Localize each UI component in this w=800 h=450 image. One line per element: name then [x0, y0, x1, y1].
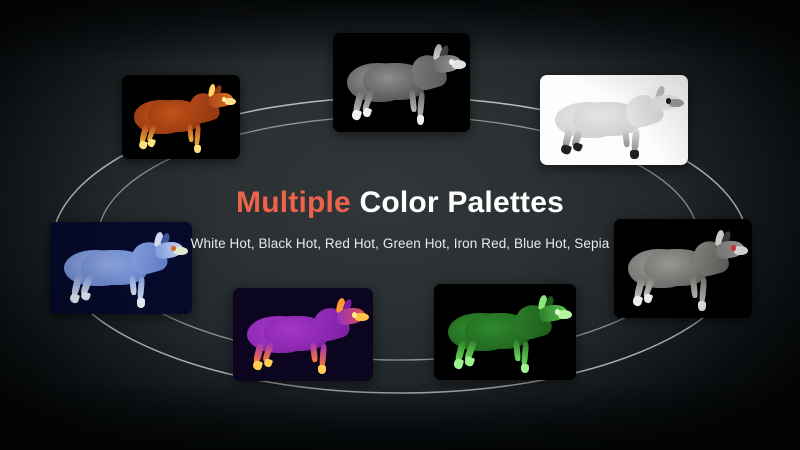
palette-card-black-hot[interactable]	[540, 75, 688, 165]
palette-card-iron-red[interactable]	[122, 75, 240, 159]
deer-subject	[233, 288, 373, 381]
deer-subject	[434, 284, 576, 380]
title-accent-word: Multiple	[236, 186, 351, 219]
bottom-fade-overlay	[0, 380, 800, 450]
page-title: Multiple Color Palettes	[0, 186, 800, 221]
title-rest: Color Palettes	[351, 186, 564, 219]
thermal-scene-green-hot	[434, 284, 576, 380]
deer-subject	[540, 75, 688, 165]
thermal-scene-black-hot	[540, 75, 688, 165]
palette-card-white-hot[interactable]	[333, 33, 470, 132]
headline-block: Multiple Color Palettes White Hot, Black…	[0, 186, 800, 251]
thermal-scene-white-hot	[333, 33, 470, 132]
thermal-scene-red-hot	[233, 288, 373, 381]
palette-card-green-hot[interactable]	[434, 284, 576, 380]
deer-subject	[333, 33, 470, 132]
palette-list-subtitle: White Hot, Black Hot, Red Hot, Green Hot…	[0, 236, 800, 251]
deer-subject	[122, 75, 240, 159]
thermal-scene-iron-red	[122, 75, 240, 159]
slide-canvas: Multiple Color Palettes White Hot, Black…	[0, 0, 800, 450]
palette-card-red-hot[interactable]	[233, 288, 373, 381]
